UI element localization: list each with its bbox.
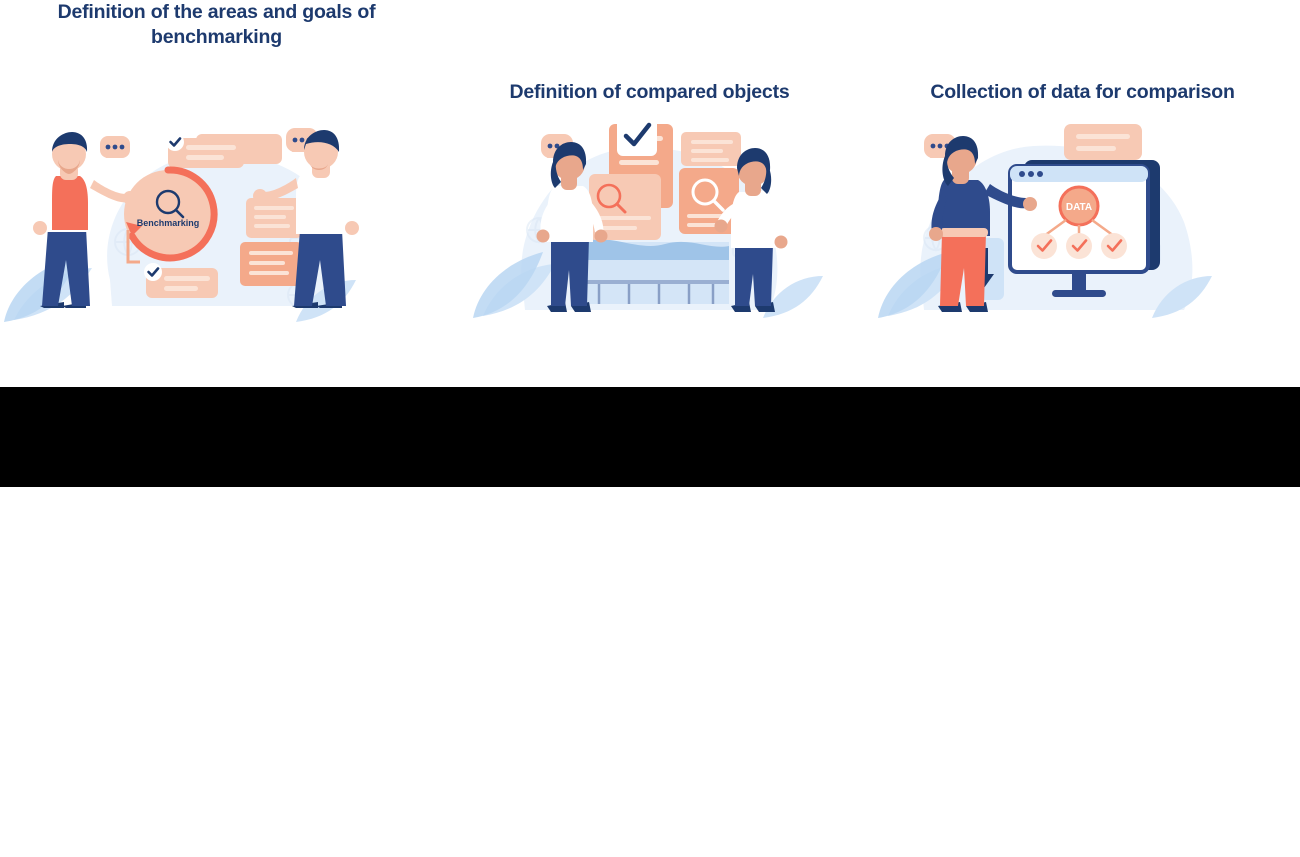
panel-title-2: Definition of compared objects [433, 80, 866, 105]
alamy-logo: alamy [45, 799, 193, 853]
panel-compared-objects: Definition of compared objects [433, 0, 866, 387]
scene-3-svg: DATA [866, 110, 1299, 345]
watermark-bar: alamy 2WJFKBR www.alamy.com [0, 387, 1300, 487]
illustration-stage: Definition of the areas and goals of ben… [0, 0, 1300, 387]
panel-title-1: Definition of the areas and goals of ben… [0, 0, 433, 50]
scene-2-svg [433, 110, 866, 345]
scene-benchmarking-areas: Benchmarking [0, 110, 433, 345]
scene-1-svg: Benchmarking [0, 110, 433, 345]
scene-3-data-label: DATA [1066, 202, 1092, 213]
scene-1-center-label: Benchmarking [137, 218, 200, 228]
panel-data-collection: Collection of data for comparison [866, 0, 1299, 387]
scene-compared-objects [433, 110, 866, 345]
panel-title-3: Collection of data for comparison [866, 80, 1299, 105]
watermark-image-id: 2WJFKBR [1162, 805, 1264, 829]
watermark-url: www.alamy.com [1107, 833, 1264, 857]
panel-benchmarking-areas: Definition of the areas and goals of ben… [0, 0, 433, 387]
scene-data-collection: DATA [866, 110, 1299, 345]
